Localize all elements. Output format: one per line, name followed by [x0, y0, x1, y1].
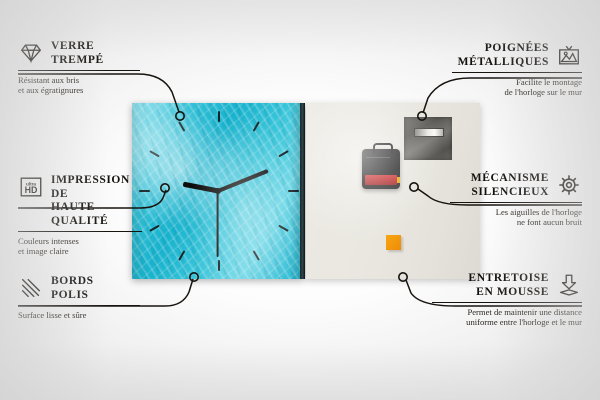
hour-tick	[278, 150, 289, 157]
hour-tick	[178, 121, 185, 132]
clock-dial	[132, 103, 304, 279]
infographic-canvas: VERRE TREMPÉ Résistant aux bris et aux é…	[0, 0, 600, 400]
arrow-down-pad-icon	[556, 272, 582, 298]
callout-desc-line1: Les aiguilles de l'horloge	[450, 207, 582, 218]
hour-tick	[288, 190, 299, 192]
hour-tick	[278, 225, 289, 232]
callout-rule	[18, 305, 140, 306]
foam-spacer	[386, 235, 401, 250]
hour-tick	[149, 225, 160, 232]
callout-title: BORDS POLIS	[51, 275, 94, 302]
mechanism-hanger	[373, 143, 393, 154]
callout-rule	[452, 72, 582, 73]
clock-front-panel	[132, 103, 304, 279]
callout-title: VERRE TREMPÉ	[51, 40, 104, 67]
callout-desc-line1: Résistant aux bris	[18, 75, 140, 86]
callout-header: VERRE TREMPÉ	[18, 40, 140, 67]
callout-header: ultra HD IMPRESSION DE HAUTE QUALITÉ	[18, 174, 142, 228]
gear-icon	[556, 172, 582, 198]
callout-desc-line1: Facilite le montage	[452, 77, 582, 88]
framed-picture-icon	[556, 42, 582, 68]
hand-pin	[215, 188, 221, 194]
callout-header: MÉCANISME SILENCIEUX	[450, 172, 582, 199]
minute-hand	[217, 169, 269, 193]
callout-poignees-metalliques: POIGNÉES MÉTALLIQUES Facilite le montage…	[452, 42, 582, 98]
callout-impression-haute-qualite: ultra HD IMPRESSION DE HAUTE QUALITÉ Cou…	[18, 174, 142, 257]
callout-desc-line2: de l'horloge sur le mur	[452, 87, 582, 98]
callout-rule	[18, 70, 140, 71]
callout-verre-trempe: VERRE TREMPÉ Résistant aux bris et aux é…	[18, 40, 140, 96]
callout-header: POIGNÉES MÉTALLIQUES	[452, 42, 582, 69]
callout-desc-line1: Surface lisse et sûre	[18, 310, 140, 321]
battery	[365, 175, 397, 185]
callout-header: BORDS POLIS	[18, 275, 140, 302]
callout-title: MÉCANISME SILENCIEUX	[471, 172, 549, 199]
hour-tick	[178, 250, 185, 261]
callout-desc-line1: Couleurs intenses	[18, 236, 142, 247]
clock-mechanism-box	[362, 149, 400, 189]
callout-desc-line2: et aux égratignures	[18, 85, 140, 96]
svg-text:HD: HD	[25, 185, 38, 195]
hour-tick	[149, 150, 160, 157]
callout-title: IMPRESSION DE HAUTE QUALITÉ	[51, 174, 142, 228]
handle-slot	[414, 128, 444, 137]
callout-rule	[18, 231, 142, 232]
callout-desc-line2: et image claire	[18, 246, 142, 257]
callout-rule	[450, 202, 582, 203]
ultra-hd-icon: ultra HD	[18, 174, 44, 200]
callout-entretoise-en-mousse: ENTRETOISE EN MOUSSE Permet de maintenir…	[432, 272, 582, 328]
callout-title: POIGNÉES MÉTALLIQUES	[458, 42, 549, 69]
hour-hand	[182, 182, 218, 194]
metal-handle-plate	[404, 117, 452, 160]
product-image	[132, 103, 480, 281]
hour-tick	[218, 260, 220, 271]
callout-bords-polis: BORDS POLIS Surface lisse et sûre	[18, 275, 140, 320]
callout-title: ENTRETOISE EN MOUSSE	[468, 272, 549, 299]
hour-tick	[253, 121, 260, 132]
callout-rule	[432, 302, 582, 303]
hour-tick	[253, 250, 260, 261]
callout-desc-line1: Permet de maintenir une distance	[432, 307, 582, 318]
hour-tick	[218, 111, 220, 122]
diagonal-lines-icon	[18, 275, 44, 301]
mechanism-detail	[366, 157, 390, 158]
callout-header: ENTRETOISE EN MOUSSE	[432, 272, 582, 299]
second-hand	[217, 191, 219, 257]
callout-mecanisme-silencieux: MÉCANISME SILENCIEUX Les aiguilles de l'…	[450, 172, 582, 228]
callout-desc-line2: uniforme entre l'horloge et le mur	[432, 317, 582, 328]
glass-edge	[300, 103, 305, 279]
callout-desc-line2: ne font aucun bruit	[450, 217, 582, 228]
diamond-icon	[18, 40, 44, 66]
